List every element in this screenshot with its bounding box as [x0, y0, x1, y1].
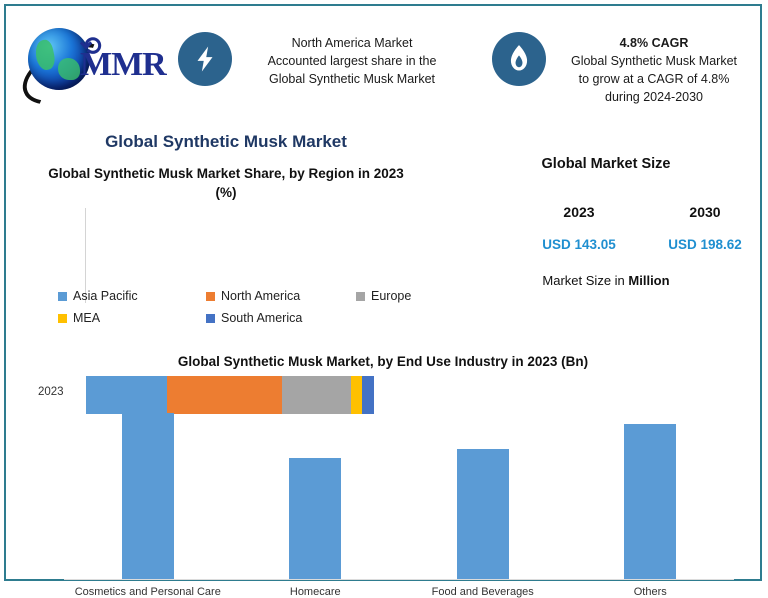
header-line: North America Market	[244, 34, 460, 52]
end-use-bar-food-and-beverages	[457, 449, 509, 579]
market-size-unit: Million	[628, 273, 669, 288]
end-use-x-label: Homecare	[232, 586, 400, 598]
market-size-value-2023: USD 143.05	[524, 237, 634, 252]
market-size-unit-note: Market Size in Million	[452, 273, 760, 288]
end-use-bar-column	[64, 396, 232, 579]
end-use-x-axis-labels: Cosmetics and Personal CareHomecareFood …	[64, 586, 734, 598]
end-use-baseline	[64, 579, 734, 580]
market-size-year-2023: 2023	[524, 204, 634, 220]
end-use-bars	[64, 396, 734, 579]
legend-swatch-icon	[206, 292, 215, 301]
end-use-plot-area: Cosmetics and Personal CareHomecareFood …	[64, 396, 734, 581]
legend-label: Asia Pacific	[73, 289, 138, 303]
cagr-value: 4.8% CAGR	[546, 34, 762, 52]
global-market-size-panel: Global Market Size 2023 2030 USD 143.05 …	[452, 156, 760, 306]
brand-logo: ⟳ MMR	[20, 18, 170, 98]
end-use-x-label: Others	[567, 586, 735, 598]
end-use-bar-column	[232, 396, 400, 579]
header-line: Global Synthetic Musk Market	[244, 70, 460, 88]
end-use-bar-column	[399, 396, 567, 579]
legend-label: South America	[221, 311, 302, 325]
header-line: to grow at a CAGR of 4.8%	[546, 70, 762, 88]
market-size-unit-prefix: Market Size in	[542, 273, 628, 288]
end-use-bar-homecare	[289, 458, 341, 579]
market-size-year-2030: 2030	[650, 204, 760, 220]
legend-item-mea[interactable]: MEA	[58, 311, 206, 325]
legend-swatch-icon	[58, 314, 67, 323]
legend-swatch-icon	[206, 314, 215, 323]
region-share-legend: Asia PacificNorth AmericaEuropeMEASouth …	[58, 289, 428, 333]
legend-label: MEA	[73, 311, 100, 325]
end-use-bar-cosmetics-and-personal-care	[122, 413, 174, 579]
lightning-bolt-icon	[178, 32, 232, 86]
end-use-chart-title: Global Synthetic Musk Market, by End Use…	[6, 354, 760, 369]
brand-name: MMR	[80, 46, 166, 84]
region-share-chart-title: Global Synthetic Musk Market Share, by R…	[36, 164, 416, 202]
header-text-cagr: 4.8% CAGR Global Synthetic Musk Market t…	[546, 34, 762, 106]
legend-item-europe[interactable]: Europe	[356, 289, 426, 303]
page-title: Global Synthetic Musk Market	[6, 132, 446, 152]
legend-swatch-icon	[356, 292, 365, 301]
end-use-bar-column	[567, 396, 735, 579]
flame-icon	[492, 32, 546, 86]
legend-label: Europe	[371, 289, 411, 303]
header-line: Global Synthetic Musk Market	[546, 52, 762, 70]
legend-label: North America	[221, 289, 300, 303]
infographic-frame: ⟳ MMR North America Market Accounted lar…	[4, 4, 762, 581]
legend-swatch-icon	[58, 292, 67, 301]
end-use-x-label: Food and Beverages	[399, 586, 567, 598]
end-use-industry-chart: Global Synthetic Musk Market, by End Use…	[6, 351, 760, 581]
header-line: Accounted largest share in the	[244, 52, 460, 70]
end-use-bar-others	[624, 424, 676, 579]
legend-item-north-america[interactable]: North America	[206, 289, 356, 303]
market-size-title: Global Market Size	[452, 156, 760, 172]
header-text-north-america: North America Market Accounted largest s…	[244, 34, 460, 88]
end-use-x-label: Cosmetics and Personal Care	[64, 586, 232, 598]
market-size-value-2030: USD 198.62	[650, 237, 760, 252]
legend-item-south-america[interactable]: South America	[206, 311, 356, 325]
legend-item-asia-pacific[interactable]: Asia Pacific	[58, 289, 206, 303]
header-line: during 2024-2030	[546, 88, 762, 106]
header: ⟳ MMR North America Market Accounted lar…	[6, 6, 760, 116]
